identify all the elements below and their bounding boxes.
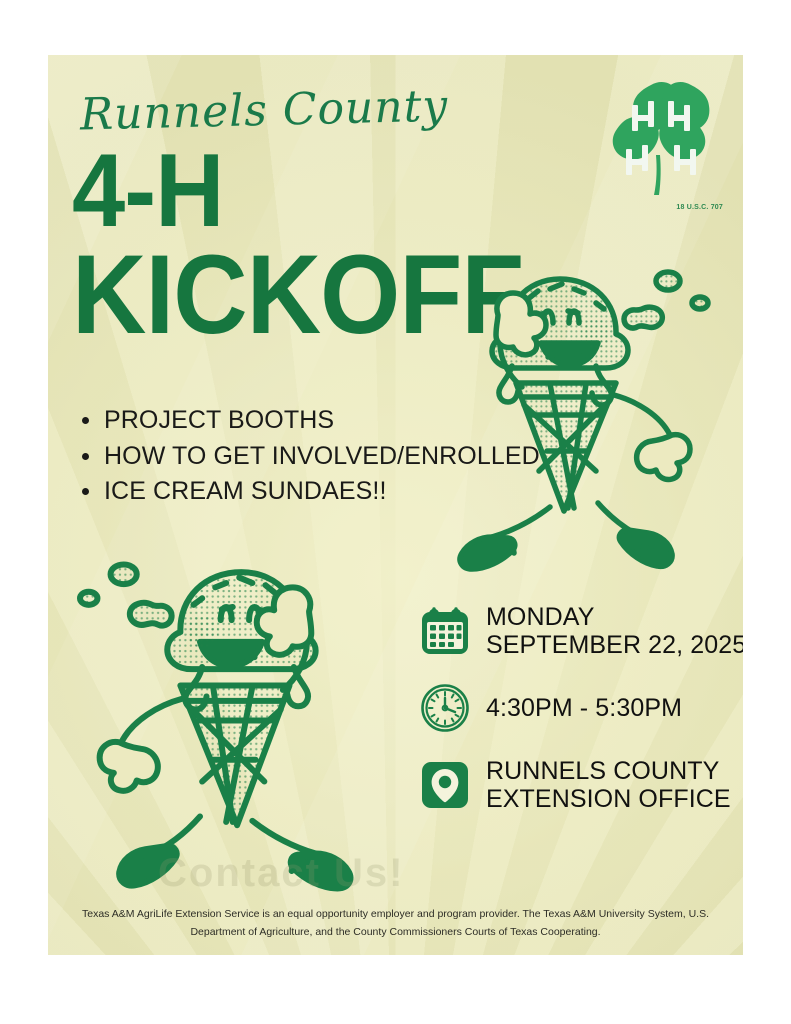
detail-text-time: 4:30PM - 5:30PM: [486, 694, 682, 722]
detail-location-line1: RUNNELS COUNTY: [486, 757, 719, 785]
watermark-text: Contact Us!: [158, 851, 404, 896]
page-title-line-1: 4-H: [72, 147, 223, 236]
location-pin-icon: [420, 760, 470, 810]
detail-location-line2: EXTENSION OFFICE: [486, 785, 731, 813]
detail-row-time: 4:30PM - 5:30PM: [420, 683, 730, 733]
footer-disclaimer: Texas A&M AgriLife Extension Service is …: [74, 906, 717, 941]
clock-icon: [420, 683, 470, 733]
clover-legal-text: 18 U.S.C. 707: [676, 204, 723, 211]
detail-text-date: MONDAY SEPTEMBER 22, 2025: [486, 603, 743, 659]
poster: Runnels County 4-H KICKOFF: [48, 55, 743, 955]
event-details: MONDAY SEPTEMBER 22, 2025: [420, 603, 730, 837]
four-h-clover-icon: 18 U.S.C. 707: [593, 77, 725, 217]
detail-row-location: RUNNELS COUNTY EXTENSION OFFICE: [420, 757, 730, 813]
running-ice-cream-cone-illustration-top: [400, 245, 730, 575]
running-ice-cream-cone-illustration-bottom: [56, 535, 416, 895]
detail-date-line1: MONDAY: [486, 603, 594, 631]
footer-line-1: Texas A&M AgriLife Extension Service is …: [82, 908, 645, 920]
detail-time-line1: 4:30PM - 5:30PM: [486, 694, 682, 722]
page-subtitle-script: Runnels County: [79, 81, 448, 141]
detail-date-line2: SEPTEMBER 22, 2025: [486, 631, 743, 659]
detail-row-date: MONDAY SEPTEMBER 22, 2025: [420, 603, 730, 659]
calendar-icon: [420, 606, 470, 656]
detail-text-location: RUNNELS COUNTY EXTENSION OFFICE: [486, 757, 731, 813]
